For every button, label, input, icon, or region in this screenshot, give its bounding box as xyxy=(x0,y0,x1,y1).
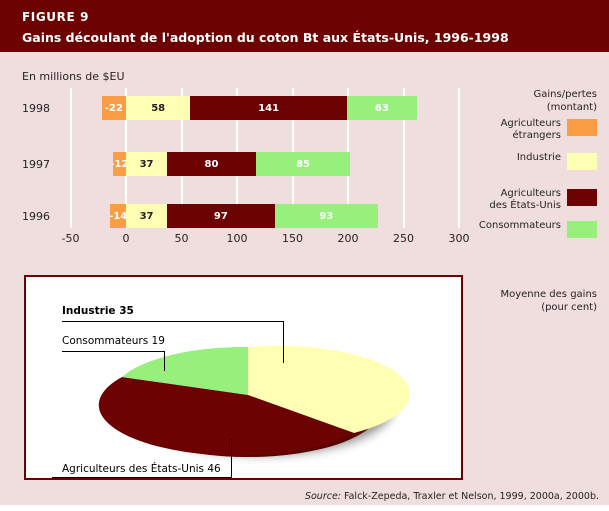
x-tick-label-150: 150 xyxy=(273,232,313,245)
bar-segment-1998-1: 58 xyxy=(126,96,190,120)
legend-label-line1: Agriculteurs xyxy=(489,188,561,200)
bar-segment-1998-2: 141 xyxy=(190,96,347,120)
x-tick-label-200: 200 xyxy=(328,232,368,245)
pie-chart-side-label: Moyenne des gains (pour cent) xyxy=(500,288,597,314)
bar-row-1997: -12378085 xyxy=(0,152,470,176)
figure-header-band: FIGURE 9 Gains découlant de l'adoption d… xyxy=(0,0,609,52)
legend-item-1: Industrie xyxy=(517,152,597,170)
pie-label-agriculteurs: Agriculteurs des États-Unis 46 xyxy=(62,463,221,475)
bar-segment-1996-3: 93 xyxy=(275,204,378,228)
x-tick-label-100: 100 xyxy=(217,232,257,245)
legend-label-line1: Agriculteurs xyxy=(501,118,561,130)
bar-segment-1996-1: 37 xyxy=(126,204,167,228)
pie-chart-panel: Industrie 35 Consommateurs 19 Agriculteu… xyxy=(24,275,463,480)
bar-segment-1996-2: 97 xyxy=(167,204,275,228)
bar-chart-units-label: En millions de $EU xyxy=(22,70,125,83)
bar-segment-1997-1: 37 xyxy=(126,152,167,176)
pie-callout-agriculteurs-underline xyxy=(52,477,232,478)
legend-item-label: Agriculteursdes États-Unis xyxy=(489,188,567,212)
source-note: Source: Falck-Zepeda, Traxler et Nelson,… xyxy=(305,491,599,502)
legend-item-0: Agriculteursétrangers xyxy=(501,118,597,142)
x-tick-label-50: 50 xyxy=(162,232,202,245)
pie-side-label-line1: Moyenne des gains xyxy=(500,288,597,301)
bar-chart: 199819971996 -225814163-12378085-1437979… xyxy=(0,88,470,248)
x-tick-label--50: -50 xyxy=(51,232,91,245)
legend-item-label: Consommateurs xyxy=(479,220,567,232)
x-tick-label-300: 300 xyxy=(439,232,479,245)
legend-swatch xyxy=(567,221,597,238)
legend-item-2: Agriculteursdes États-Unis xyxy=(489,188,597,212)
legend-item-label: Agriculteursétrangers xyxy=(501,118,567,142)
source-text: Falck-Zepeda, Traxler et Nelson, 1999, 2… xyxy=(341,491,599,502)
x-tick-label-0: 0 xyxy=(106,232,146,245)
legend-label-line2: des États-Unis xyxy=(489,200,561,212)
bar-segment-1997-3: 85 xyxy=(256,152,350,176)
bar-row-1998: -225814163 xyxy=(0,96,470,120)
bar-segment-1998-3: 63 xyxy=(347,96,417,120)
pie-label-industrie: Industrie 35 xyxy=(62,305,134,317)
legend-item-label: Industrie xyxy=(517,152,567,164)
pie-callout-consommateurs-leader xyxy=(164,351,165,371)
bar-segment-1996-0: -14 xyxy=(110,204,126,228)
figure-number: FIGURE 9 xyxy=(22,10,89,24)
legend-swatch xyxy=(567,119,597,136)
pie-callout-agriculteurs-leader xyxy=(231,439,232,477)
bottom-white-strip xyxy=(0,505,609,511)
x-tick-label-250: 250 xyxy=(384,232,424,245)
legend-title-line1: Gains/pertes xyxy=(534,88,597,101)
bar-row-1996: -14379793 xyxy=(0,204,470,228)
page-title: Gains découlant de l'adoption du coton B… xyxy=(22,30,509,45)
bar-segment-1997-2: 80 xyxy=(167,152,256,176)
bar-segment-1998-0: -22 xyxy=(102,96,126,120)
pie-callout-consommateurs-underline xyxy=(62,351,165,352)
legend-title: Gains/pertes (montant) xyxy=(534,88,597,114)
pie-chart: Industrie 35 Consommateurs 19 Agriculteu… xyxy=(26,277,465,482)
bar-segment-1997-0: -12 xyxy=(113,152,126,176)
legend-label-line1: Consommateurs xyxy=(479,220,561,232)
legend-swatch xyxy=(567,153,597,170)
source-prefix: Source: xyxy=(305,491,341,502)
pie-callout-industrie-leader xyxy=(283,321,284,363)
pie-side-label-line2: (pour cent) xyxy=(500,301,597,314)
legend-title-line2: (montant) xyxy=(534,101,597,114)
legend-item-3: Consommateurs xyxy=(479,220,597,238)
legend-swatch xyxy=(567,189,597,206)
pie-label-consommateurs: Consommateurs 19 xyxy=(62,335,165,347)
legend-label-line2: étrangers xyxy=(501,130,561,142)
pie-callout-industrie-underline xyxy=(62,321,284,322)
legend-label-line1: Industrie xyxy=(517,152,561,164)
